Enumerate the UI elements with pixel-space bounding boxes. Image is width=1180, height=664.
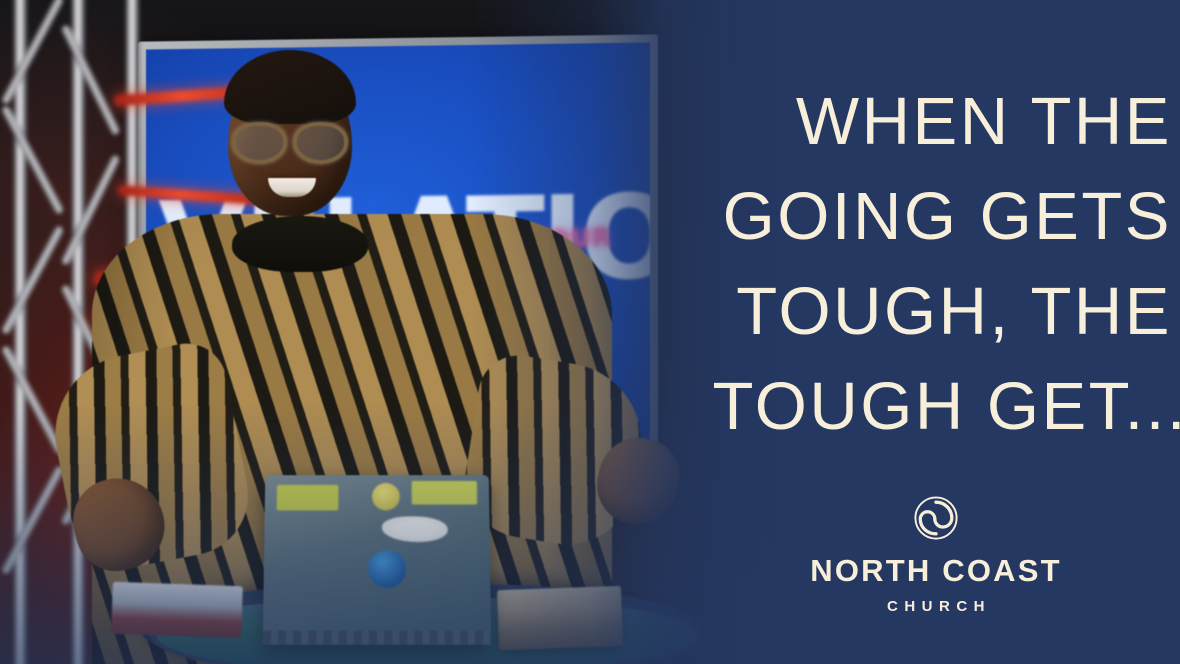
laptop-hinge — [263, 631, 492, 645]
headline-line-3: TOUGH, THE — [560, 264, 1172, 359]
laptop-sticker-circle — [372, 483, 400, 510]
headline-line-2: GOING GETS — [560, 169, 1172, 264]
speaker-collar — [232, 216, 368, 272]
brand-logo: NORTH COAST CHURCH — [805, 495, 1067, 614]
headline-line-4: TOUGH GET... — [560, 359, 1180, 454]
book-stack-left — [111, 582, 243, 639]
headline: WHEN THE GOING GETS TOUGH, THE TOUGH GET… — [560, 74, 1180, 454]
laptop-sticker-yellow-right — [412, 481, 478, 505]
wave-circle-icon — [913, 495, 959, 541]
speaker-glasses — [232, 122, 348, 156]
logo-name: NORTH COAST — [805, 555, 1067, 586]
laptop — [263, 475, 492, 645]
laptop-sticker-white — [382, 516, 448, 542]
book-stack — [497, 586, 623, 650]
laptop-sticker-blue — [368, 550, 406, 588]
promo-graphic: VELATIONON REVELATION TOUR — [0, 0, 1180, 664]
logo-subtitle: CHURCH — [805, 599, 1067, 614]
headline-line-1: WHEN THE — [560, 74, 1172, 169]
laptop-sticker-yellow-left — [277, 485, 339, 511]
